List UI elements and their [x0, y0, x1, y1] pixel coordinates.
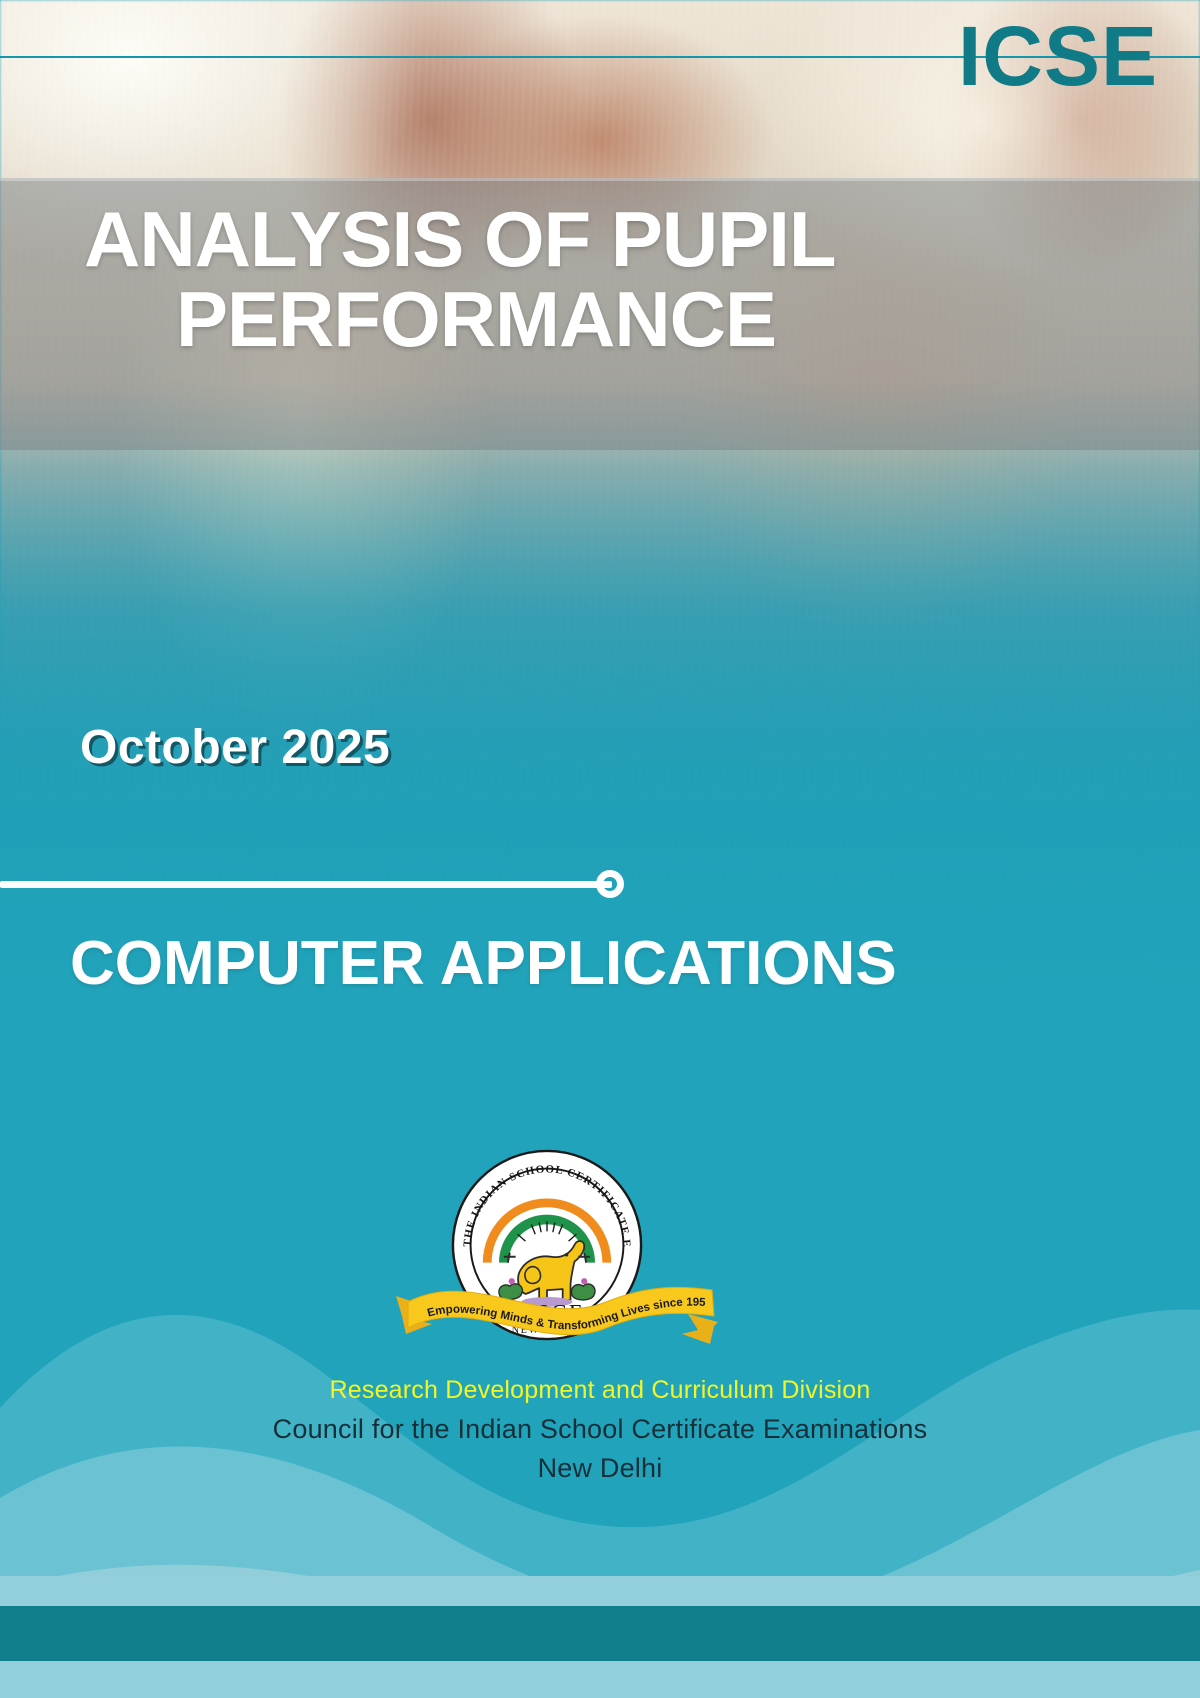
footer-city: New Delhi: [0, 1449, 1200, 1488]
footer-bar-light-top: [0, 1576, 1200, 1606]
logo-ribbon: Empowering Minds & Transforming Lives si…: [392, 1272, 722, 1356]
title-band-top-edge: [0, 178, 1200, 181]
page-title: ANALYSIS OF PUPIL PERFORMANCE: [84, 200, 1090, 359]
footer-bar-light-bottom: [0, 1661, 1200, 1698]
footer-bar-dark: [0, 1606, 1200, 1661]
divider-line: [0, 881, 612, 888]
divider-end-dot-icon: [596, 870, 624, 898]
footer-division: Research Development and Curriculum Divi…: [0, 1372, 1200, 1410]
footer-block: Research Development and Curriculum Divi…: [0, 1372, 1200, 1488]
report-cover: ICSE ANALYSIS OF PUPIL PERFORMANCE Octob…: [0, 0, 1200, 1698]
page-title-line-1: ANALYSIS OF PUPIL: [84, 195, 836, 283]
footer-council: Council for the Indian School Certificat…: [0, 1410, 1200, 1449]
page-title-line-2: PERFORMANCE: [84, 280, 1090, 360]
subject-divider: [0, 870, 670, 898]
icse-wordmark: ICSE: [958, 14, 1158, 98]
publication-date: October 2025: [80, 720, 390, 775]
